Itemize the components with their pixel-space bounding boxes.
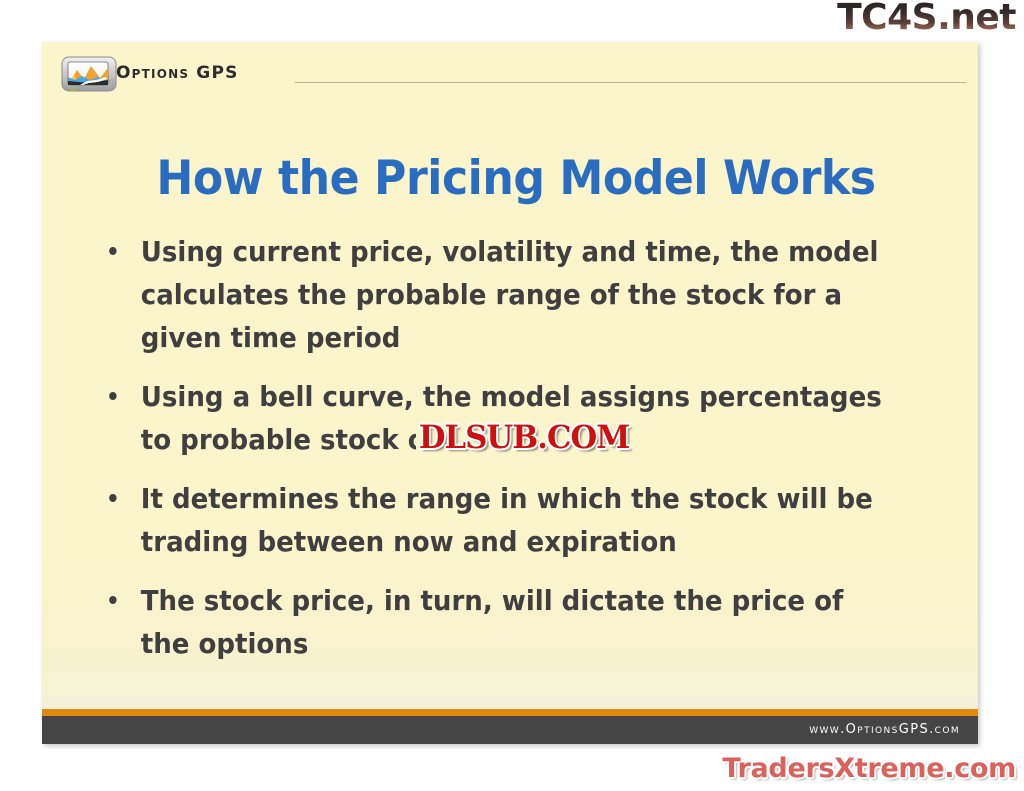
dlsub-watermark: DLSUB.COM bbox=[416, 419, 632, 455]
presentation-slide: Options GPS How the Pricing Model Works … bbox=[42, 42, 978, 744]
list-item: The stock price, in turn, will dictate t… bbox=[98, 579, 898, 665]
bullet-dot-icon bbox=[109, 392, 116, 400]
header-divider bbox=[295, 82, 966, 83]
tc4s-watermark: TC4S.net bbox=[837, 0, 1016, 38]
list-item-text: Using current price, volatility and time… bbox=[141, 230, 898, 359]
slide-header: Options GPS bbox=[42, 42, 978, 100]
list-item: It determines the range in which the sto… bbox=[98, 477, 898, 563]
bullet-dot-icon bbox=[109, 247, 116, 255]
gps-device-icon bbox=[60, 55, 122, 95]
footer-accent-stripe bbox=[42, 709, 978, 716]
slide-footer: www.OptionsGPS.com bbox=[42, 716, 978, 744]
list-item-text: The stock price, in turn, will dictate t… bbox=[141, 579, 898, 665]
tradersxtreme-logo: TradersXtreme.com bbox=[722, 753, 1016, 785]
list-item-text: It determines the range in which the sto… bbox=[141, 477, 898, 563]
bullet-dot-icon bbox=[109, 596, 116, 604]
footer-url-label: www.OptionsGPS.com bbox=[809, 722, 960, 737]
bullet-dot-icon bbox=[109, 494, 116, 502]
brand-name-label: Options GPS bbox=[116, 63, 239, 83]
page-title: How the Pricing Model Works bbox=[102, 151, 929, 207]
list-item: Using current price, volatility and time… bbox=[98, 230, 898, 359]
